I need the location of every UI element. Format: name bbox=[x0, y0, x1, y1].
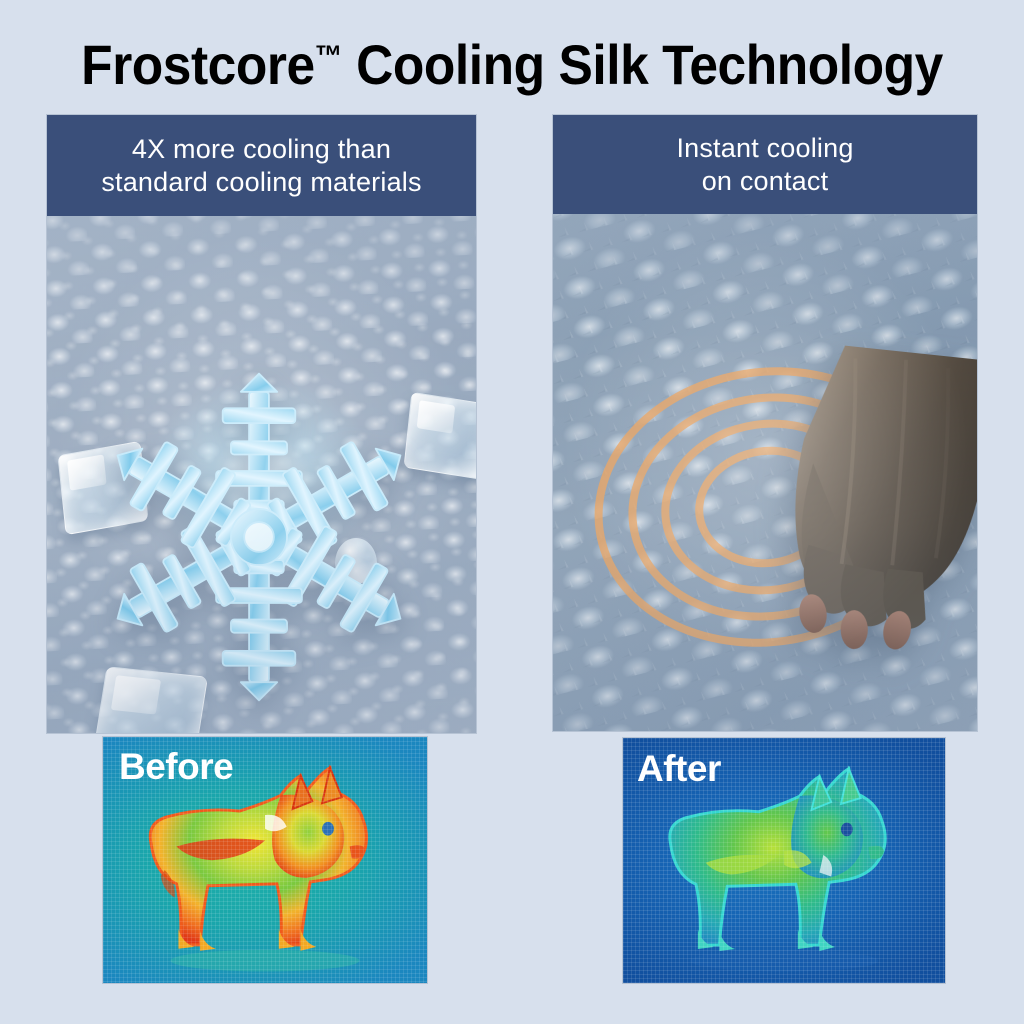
thermal-image-before: Before bbox=[103, 737, 427, 983]
dog-paw-icon bbox=[744, 338, 977, 691]
feature-panel-right-caption: Instant cooling on contact bbox=[553, 115, 977, 214]
right-caption-line-1: Instant cooling bbox=[676, 132, 853, 165]
paw-contact-photo bbox=[553, 214, 977, 731]
left-caption-line-1: 4X more cooling than bbox=[101, 133, 421, 166]
cooling-ripple-group bbox=[597, 372, 937, 642]
snowflake-photo bbox=[47, 216, 476, 733]
thermal-image-after: After bbox=[623, 738, 945, 983]
snowflake-icon bbox=[94, 372, 424, 702]
feature-panel-left-caption: 4X more cooling than standard cooling ma… bbox=[47, 115, 476, 216]
trademark-symbol: ™ bbox=[315, 40, 343, 73]
feature-panel-cooling-power: 4X more cooling than standard cooling ma… bbox=[47, 115, 476, 733]
page-title-brand: Frostcore bbox=[81, 33, 314, 96]
before-label: Before bbox=[119, 745, 233, 789]
feature-panel-instant-cooling: Instant cooling on contact bbox=[553, 115, 977, 731]
page-title: Frostcore™ Cooling Silk Technology bbox=[41, 26, 983, 96]
left-caption-line-2: standard cooling materials bbox=[101, 166, 421, 199]
right-caption-line-2: on contact bbox=[676, 165, 853, 198]
page-title-rest: Cooling Silk Technology bbox=[342, 33, 943, 96]
after-label: After bbox=[637, 747, 721, 791]
